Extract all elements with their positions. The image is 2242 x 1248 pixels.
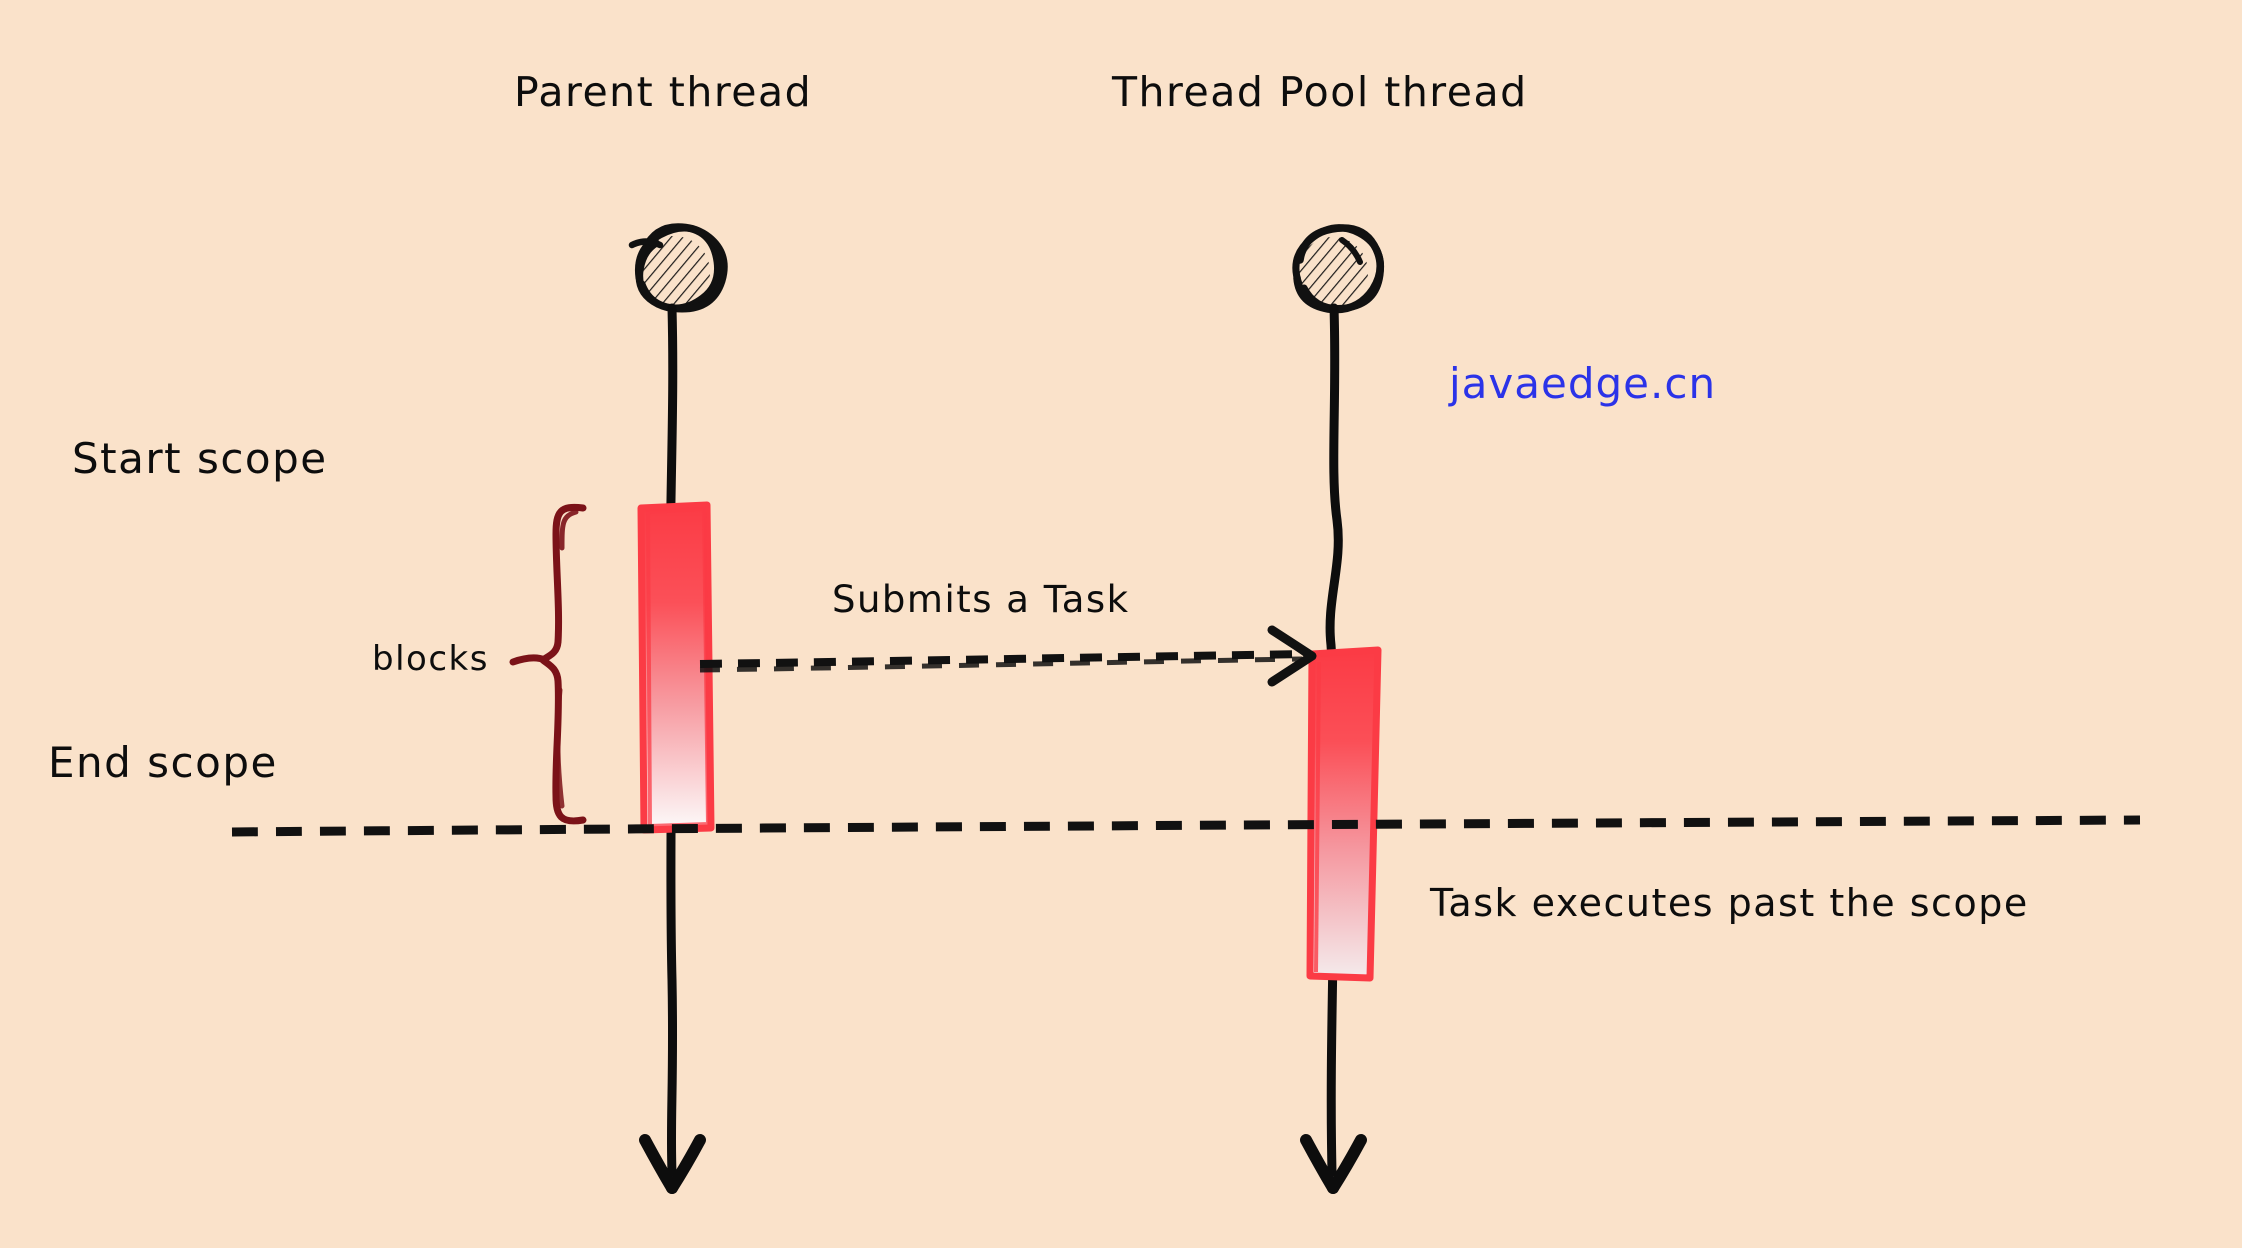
- diagram-canvas: Parent thread Thread Pool thread Start s…: [0, 0, 2242, 1248]
- lifeline-parent: [632, 227, 724, 1188]
- lifeline-label-parent: Parent thread: [514, 68, 812, 116]
- message-label-submits-task: Submits a Task: [832, 578, 1130, 621]
- annotation-start-scope: Start scope: [72, 434, 328, 483]
- scope-boundary-line: [232, 820, 2140, 832]
- diagram-vector-layer: [0, 0, 2242, 1248]
- actor-head-pool-icon: [1296, 228, 1381, 310]
- annotation-blocks: blocks: [372, 639, 489, 679]
- lifeline-pool: [1296, 228, 1381, 1188]
- watermark-label: javaedge.cn: [1449, 359, 1716, 408]
- message-arrow-submits-task: [700, 630, 1312, 682]
- actor-head-parent-icon: [632, 227, 724, 309]
- activation-bar-pool: [1310, 650, 1378, 978]
- annotation-task-past-scope: Task executes past the scope: [1430, 881, 2029, 925]
- blocks-brace-icon: [513, 507, 583, 821]
- lifeline-label-pool: Thread Pool thread: [1112, 68, 1528, 116]
- annotation-end-scope: End scope: [48, 738, 278, 787]
